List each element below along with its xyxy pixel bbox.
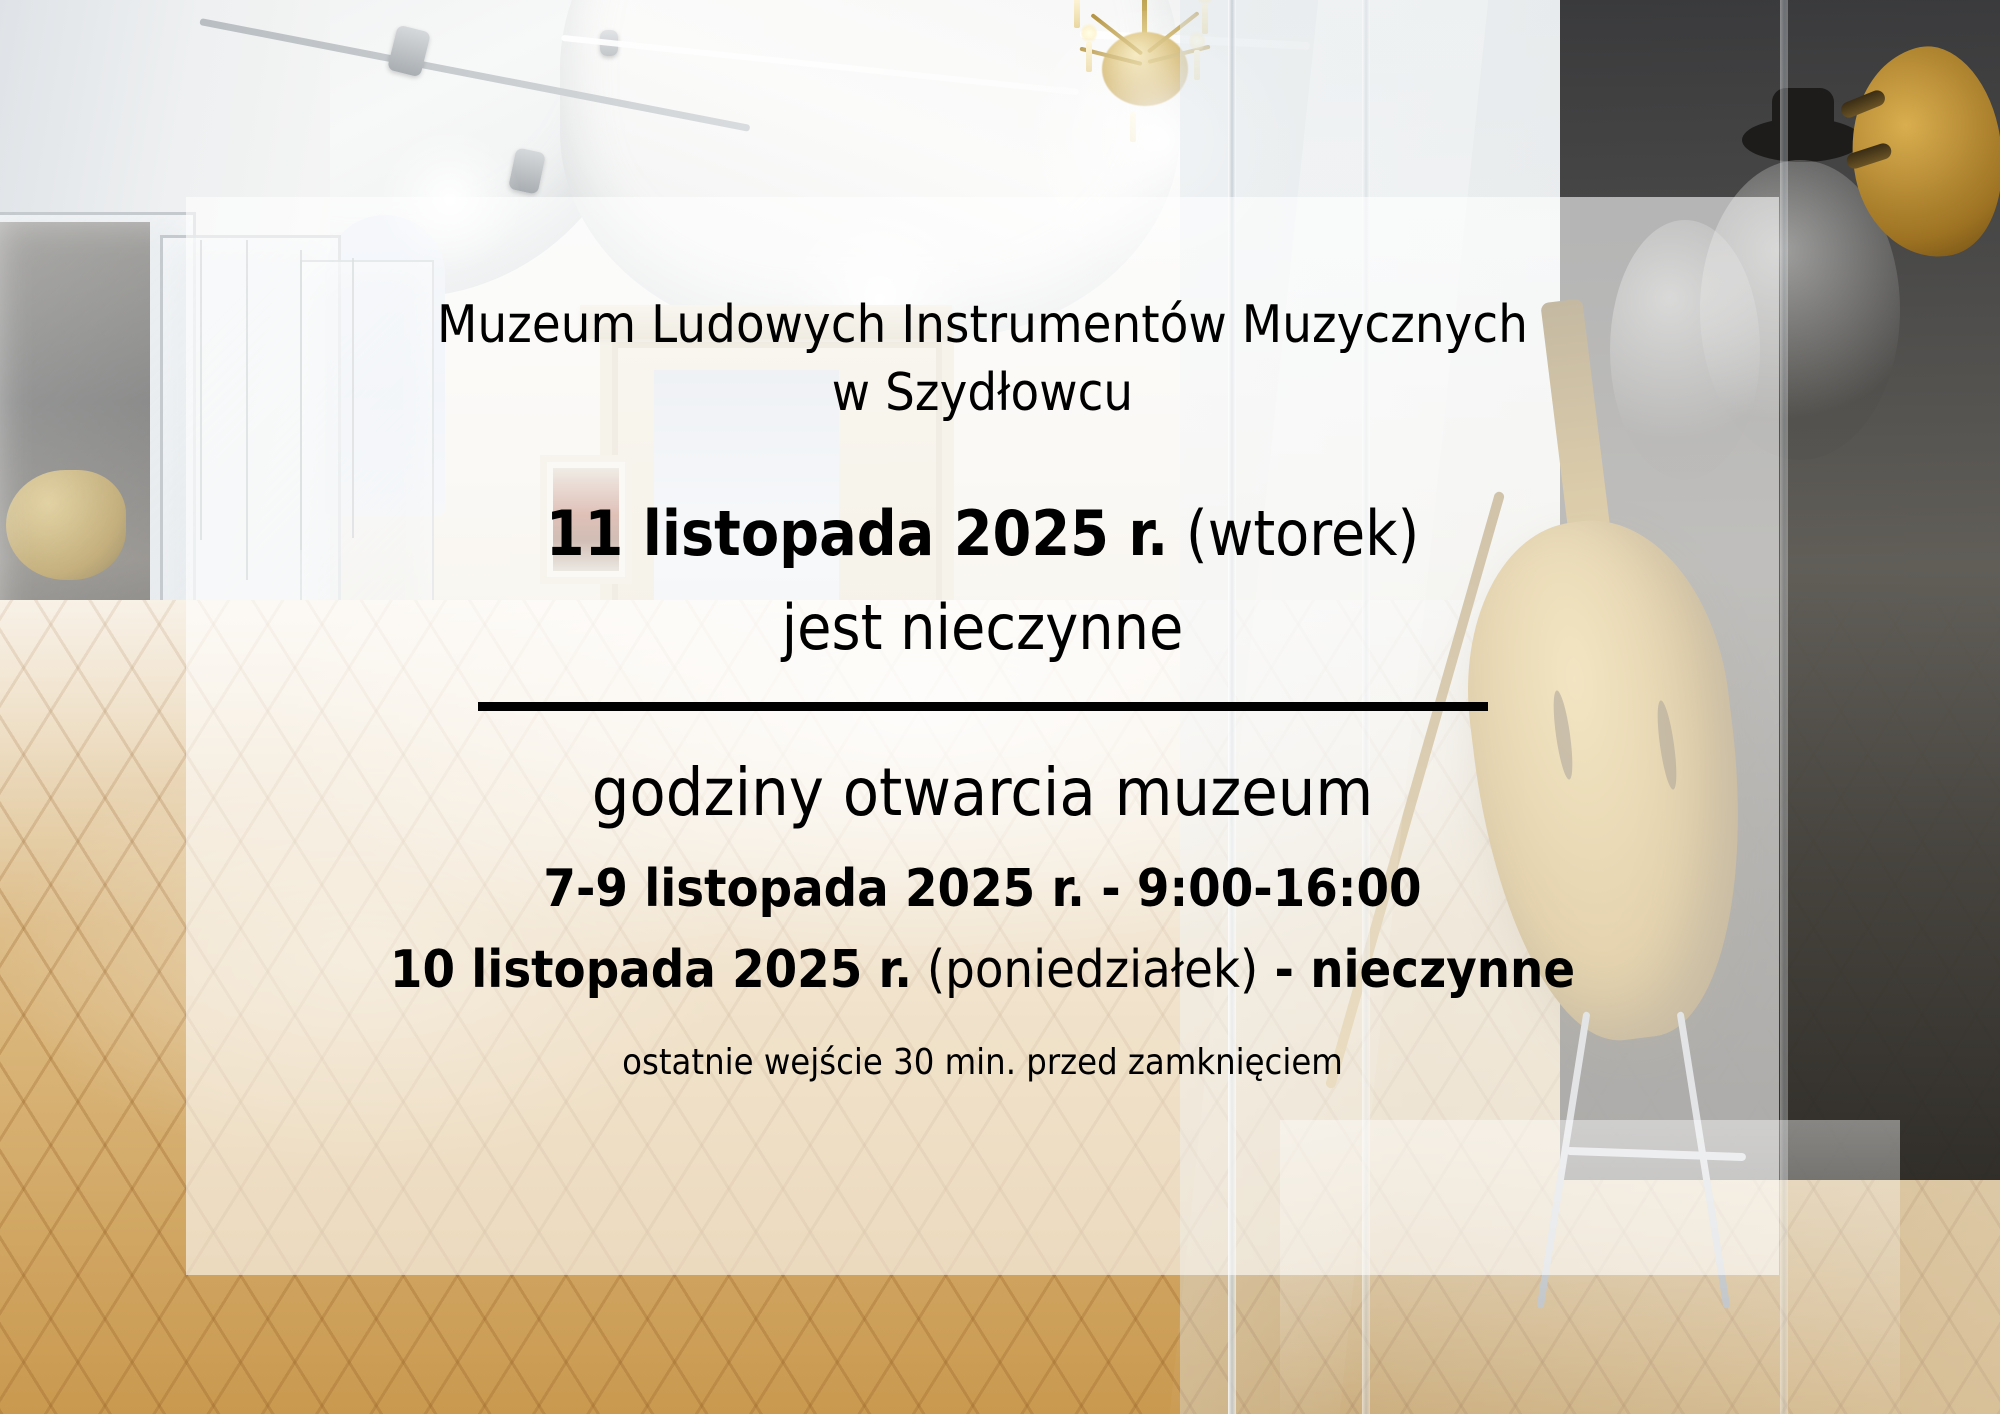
folk-hat: [1742, 118, 1862, 162]
hours-line-2-weekday: (poniedziałek): [912, 940, 1258, 1000]
last-entry-note: ostatnie wejście 30 min. przed zamknięci…: [622, 1041, 1343, 1084]
hours-line-2-status: - nieczynne: [1258, 940, 1575, 1000]
horizontal-divider: [478, 702, 1488, 711]
museum-name: Muzeum Ludowych Instrumentów Muzycznych …: [358, 292, 1608, 427]
closed-status-text: jest nieczynne: [782, 593, 1184, 662]
closed-date-value: 11 listopada 2025 r.: [546, 497, 1168, 570]
opening-hours-line-1: 7-9 listopada 2025 r. - 9:00-16:00: [543, 860, 1421, 920]
opening-hours-line-2: 10 listopada 2025 r. (poniedziałek) - ni…: [390, 941, 1575, 1001]
closed-date-line: 11 listopada 2025 r. (wtorek): [546, 499, 1420, 568]
chandelier-candle: [1074, 0, 1080, 28]
museum-name-line-2: w Szydłowcu: [358, 360, 1608, 428]
announcement-poster: Muzeum Ludowych Instrumentów Muzycznych …: [0, 0, 2000, 1414]
announcement-content: Muzeum Ludowych Instrumentów Muzycznych …: [186, 197, 1779, 1275]
museum-name-line-1: Muzeum Ludowych Instrumentów Muzycznych: [358, 292, 1608, 360]
closed-date-weekday: (wtorek): [1168, 497, 1419, 570]
opening-hours-heading: godziny otwarcia muzeum: [592, 757, 1374, 830]
hours-line-2-date: 10 listopada 2025 r.: [390, 940, 912, 1000]
